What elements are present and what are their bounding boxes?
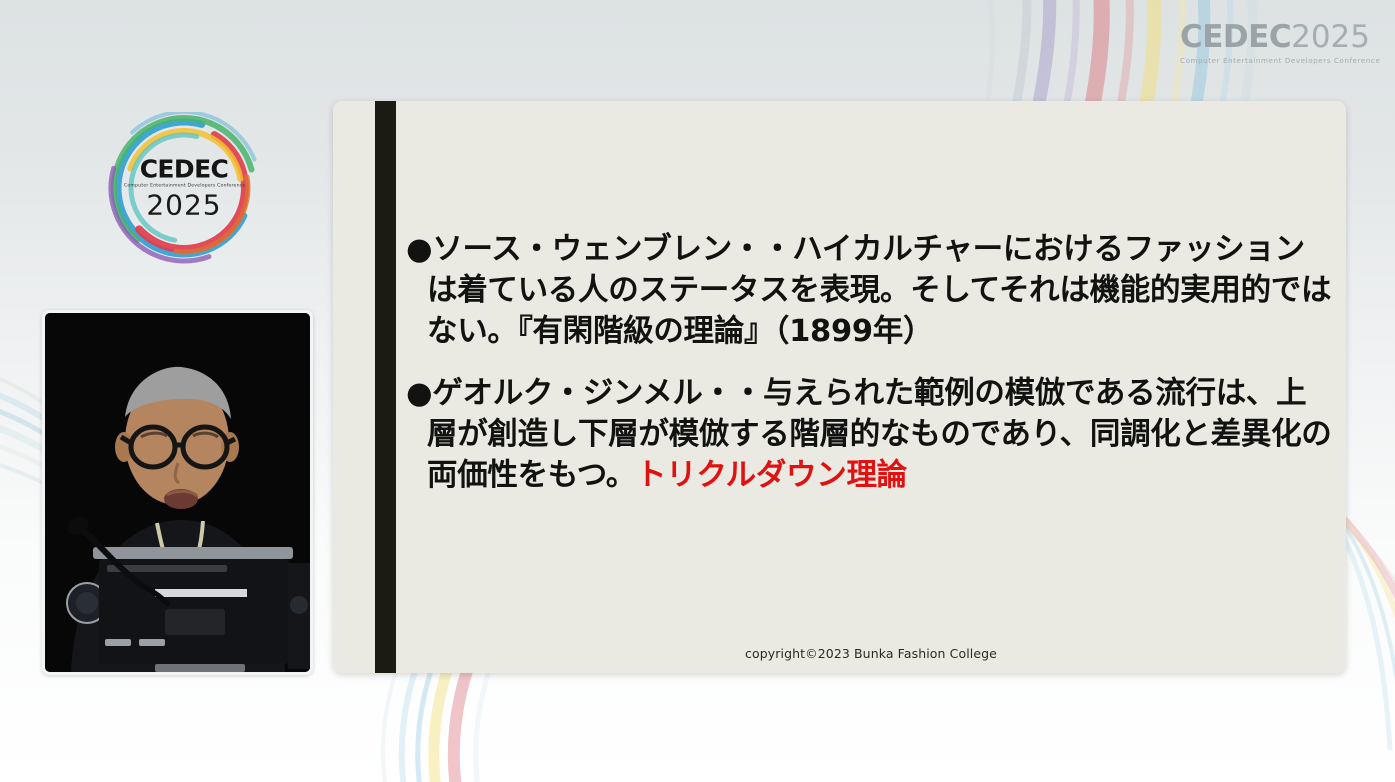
cedec-watermark-tagline: Computer Entertainment Developers Confer… (1180, 56, 1385, 65)
cedec-watermark-main-text: CEDEC (1180, 19, 1291, 55)
speaker-video-inner (45, 313, 310, 672)
presentation-slide: ●ソース・ウェンブレン・・ハイカルチャーにおけるファッションは着ている人のステー… (333, 101, 1346, 673)
cedec-round-logo-year: 2025 (124, 192, 244, 220)
speaker-video-thumbnail[interactable] (42, 310, 313, 675)
cedec-watermark-year-text: 2025 (1291, 19, 1370, 55)
speaker-portrait-image (45, 313, 310, 672)
cedec-round-logo-wordmark: CEDEC (124, 157, 244, 182)
cedec-round-logo-text: CEDEC Computer Entertainment Developers … (124, 157, 244, 220)
bullet-marker-icon: ● (406, 232, 432, 267)
cedec-round-logo: CEDEC Computer Entertainment Developers … (98, 112, 270, 264)
slide-presentation-frame: CEDEC2025 Computer Entertainment Develop… (0, 0, 1395, 782)
bullet-text: ソース・ウェンブレン・・ハイカルチャーにおけるファッションは着ている人のステータ… (427, 232, 1331, 349)
slide-accent-stripe (375, 101, 396, 673)
slide-bullet-item: ●ソース・ウェンブレン・・ハイカルチャーにおけるファッションは着ている人のステー… (406, 229, 1332, 352)
slide-bullet-item: ●ゲオルク・ジンメル・・与えられた範例の模倣である流行は、上層が創造し下層が模倣… (406, 373, 1332, 496)
slide-content: ●ソース・ウェンブレン・・ハイカルチャーにおけるファッションは着ている人のステー… (396, 101, 1346, 673)
bullet-marker-icon: ● (406, 376, 432, 411)
cedec-watermark-wordmark: CEDEC2025 (1180, 22, 1385, 53)
bullet-highlight-text: トリクルダウン理論 (636, 458, 907, 493)
cedec-watermark-logo: CEDEC2025 Computer Entertainment Develop… (1180, 22, 1385, 65)
slide-copyright: copyright©2023 Bunka Fashion College (396, 646, 1346, 661)
